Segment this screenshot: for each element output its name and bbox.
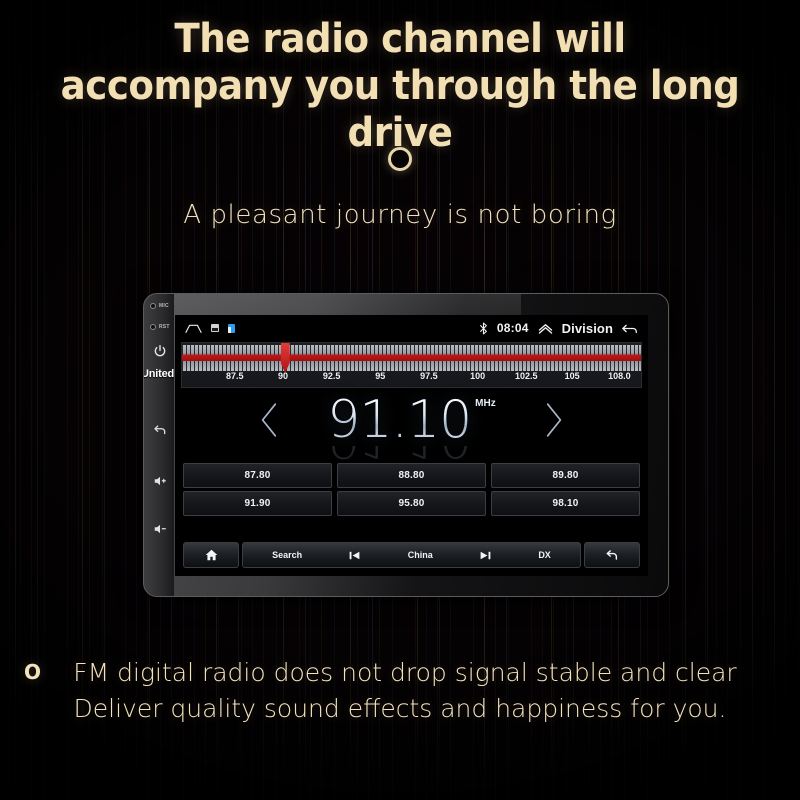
device-left-rail: MIC RST United bbox=[144, 294, 174, 596]
dial-tick-strip bbox=[182, 345, 641, 371]
status-right-group: 08:04 Division bbox=[479, 321, 638, 336]
promo-footer: O FM digital radio does not drop signal … bbox=[0, 655, 800, 728]
android-nav-group[interactable] bbox=[185, 323, 235, 334]
back-arrow-hook-icon[interactable] bbox=[622, 323, 638, 334]
home-icon bbox=[204, 548, 219, 562]
device-brand-label: United bbox=[143, 368, 174, 380]
headline-line-1: The radio channel will bbox=[28, 16, 772, 63]
sd-card-icon[interactable] bbox=[228, 324, 235, 333]
status-clock: 08:04 bbox=[497, 321, 529, 335]
mic-label: MIC bbox=[159, 303, 169, 309]
chevron-up-icon[interactable] bbox=[538, 323, 553, 334]
mic-pinhole: MIC bbox=[150, 303, 169, 309]
dial-tick-label: 100 bbox=[470, 371, 485, 381]
band-button[interactable]: China bbox=[408, 550, 433, 560]
promo-stage: The radio channel will accompany you thr… bbox=[0, 0, 800, 800]
home-button[interactable] bbox=[183, 542, 239, 568]
status-bar: 08:04 Division bbox=[175, 315, 648, 341]
dx-button[interactable]: DX bbox=[538, 550, 551, 560]
window-icon[interactable] bbox=[211, 324, 219, 332]
android-home-arch-icon[interactable] bbox=[185, 323, 202, 334]
footer-line-1-wrap: O FM digital radio does not drop signal … bbox=[0, 655, 800, 691]
preset-button[interactable]: 91.90 bbox=[183, 491, 332, 516]
tuner-dial[interactable]: 87.5 90 92.5 95 97.5 100 102.5 105 108.0 bbox=[181, 342, 642, 388]
status-division-label: Division bbox=[562, 321, 613, 336]
frequency-display: 91.10 MHz 91.10 bbox=[327, 394, 495, 446]
preset-button[interactable]: 87.80 bbox=[183, 463, 332, 488]
dial-tick-label: 87.5 bbox=[226, 371, 244, 381]
dial-tick-label: 90 bbox=[278, 371, 288, 381]
next-track-icon[interactable] bbox=[479, 549, 492, 562]
chevron-left-icon[interactable] bbox=[257, 401, 283, 439]
chevron-right-icon[interactable] bbox=[540, 401, 566, 439]
power-icon[interactable] bbox=[153, 344, 167, 358]
preset-button[interactable]: 98.10 bbox=[491, 491, 640, 516]
headline-line-2: accompany you through the long drive bbox=[28, 63, 772, 157]
circle-ring-icon bbox=[388, 147, 412, 171]
dial-tick-label: 97.5 bbox=[420, 371, 438, 381]
footer-line-1: FM digital radio does not drop signal st… bbox=[73, 658, 736, 687]
preset-button[interactable]: 95.80 bbox=[337, 491, 486, 516]
toolbar-center-group: Search China DX bbox=[242, 542, 581, 568]
back-arrow-icon[interactable] bbox=[153, 422, 167, 436]
previous-track-icon[interactable] bbox=[348, 549, 361, 562]
car-stereo-device: MIC RST United bbox=[143, 293, 669, 597]
return-arrow-icon bbox=[605, 548, 619, 562]
volume-up-icon[interactable] bbox=[153, 474, 167, 488]
bottom-toolbar: Search China DX bbox=[183, 542, 640, 568]
dial-tick-label: 92.5 bbox=[323, 371, 341, 381]
volume-down-icon[interactable] bbox=[153, 522, 167, 536]
dial-tick-label: 95 bbox=[375, 371, 385, 381]
preset-button[interactable]: 88.80 bbox=[337, 463, 486, 488]
reset-label: RST bbox=[159, 324, 170, 330]
return-button[interactable] bbox=[584, 542, 640, 568]
device-screen[interactable]: 08:04 Division bbox=[175, 315, 648, 576]
dial-tick-label: 108.0 bbox=[608, 371, 631, 381]
frequency-unit: MHz bbox=[475, 398, 496, 409]
reset-hole-icon[interactable] bbox=[150, 324, 156, 330]
footer-line-2: Deliver quality sound effects and happin… bbox=[0, 691, 800, 727]
dial-scale: 87.5 90 92.5 95 97.5 100 102.5 105 108.0 bbox=[182, 371, 641, 386]
frequency-value: 91.10 bbox=[327, 394, 471, 446]
dial-tick-label: 102.5 bbox=[515, 371, 538, 381]
footer-bullet-icon: O bbox=[24, 658, 41, 687]
dial-tick-label: 105 bbox=[565, 371, 580, 381]
bluetooth-icon bbox=[479, 322, 488, 335]
frequency-row: 91.10 MHz 91.10 bbox=[175, 389, 648, 451]
preset-grid: 87.80 88.80 89.80 91.90 95.80 98.10 bbox=[183, 463, 640, 516]
preset-button[interactable]: 89.80 bbox=[491, 463, 640, 488]
promo-headline: The radio channel will accompany you thr… bbox=[28, 16, 772, 158]
promo-subtitle: A pleasant journey is not boring bbox=[0, 200, 800, 230]
reset-pinhole[interactable]: RST bbox=[150, 324, 170, 330]
search-button[interactable]: Search bbox=[272, 550, 302, 560]
mic-hole-icon bbox=[150, 303, 156, 309]
